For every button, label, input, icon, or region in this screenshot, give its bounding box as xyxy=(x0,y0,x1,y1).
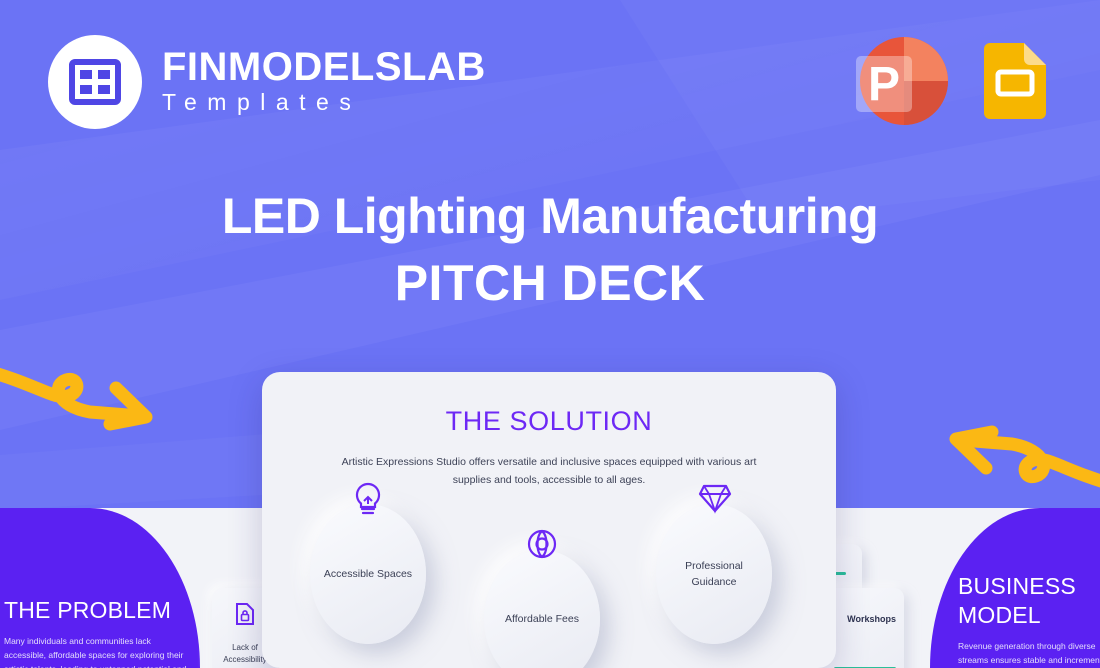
problem-slide-title: THE PROBLEM xyxy=(4,596,194,625)
brand-name: FINMODELSLAB xyxy=(162,46,486,88)
business-chart-label: Workshops xyxy=(847,614,896,624)
curved-arrow-left-icon xyxy=(922,418,1100,504)
business-chart-card-primary xyxy=(824,588,904,668)
header: FINMODELSLAB Templates P xyxy=(0,0,1100,150)
brand-logo[interactable]: FINMODELSLAB Templates xyxy=(48,35,486,129)
brand-wordmark: FINMODELSLAB Templates xyxy=(162,46,486,118)
solution-feature-bubble[interactable]: Professional Guidance xyxy=(656,504,772,644)
solution-slide-title: THE SOLUTION xyxy=(262,406,836,437)
lifebuoy-icon xyxy=(526,528,558,565)
solution-feature-label: Professional Guidance xyxy=(656,558,772,591)
solution-feature-label: Accessible Spaces xyxy=(316,566,420,582)
locked-document-icon xyxy=(235,602,255,631)
diamond-icon xyxy=(698,482,732,519)
powerpoint-icon[interactable]: P xyxy=(842,28,948,134)
solution-feature-bubble[interactable]: Affordable Fees xyxy=(484,550,600,668)
curved-arrow-right-icon xyxy=(0,352,180,438)
google-slides-icon[interactable] xyxy=(976,43,1052,119)
business-slide-body: Revenue generation through diverse strea… xyxy=(958,639,1100,668)
svg-text:P: P xyxy=(868,58,900,111)
solution-slide-description: Artistic Expressions Studio offers versa… xyxy=(339,453,759,489)
slide-thumb-solution[interactable]: THE SOLUTION Artistic Expressions Studio… xyxy=(262,372,836,668)
brand-tagline: Templates xyxy=(162,88,486,118)
pitch-deck-template-preview: FINMODELSLAB Templates P xyxy=(0,0,1100,668)
deck-title-line2: PITCH DECK xyxy=(0,247,1100,320)
lightbulb-icon xyxy=(352,482,384,523)
solution-feature-label: Affordable Fees xyxy=(497,611,587,627)
grid-table-icon xyxy=(48,35,142,129)
business-slide-title: BUSINESS MODEL xyxy=(958,572,1100,630)
solution-feature-group: Accessible Spaces Affordable Fees xyxy=(262,490,836,668)
problem-slide-body: Many individuals and communities lack ac… xyxy=(4,634,194,668)
deck-title: LED Lighting Manufacturing PITCH DECK xyxy=(0,186,1100,320)
solution-feature-bubble[interactable]: Accessible Spaces xyxy=(310,504,426,644)
format-icon-group: P xyxy=(842,28,1052,134)
deck-title-line1: LED Lighting Manufacturing xyxy=(0,186,1100,247)
